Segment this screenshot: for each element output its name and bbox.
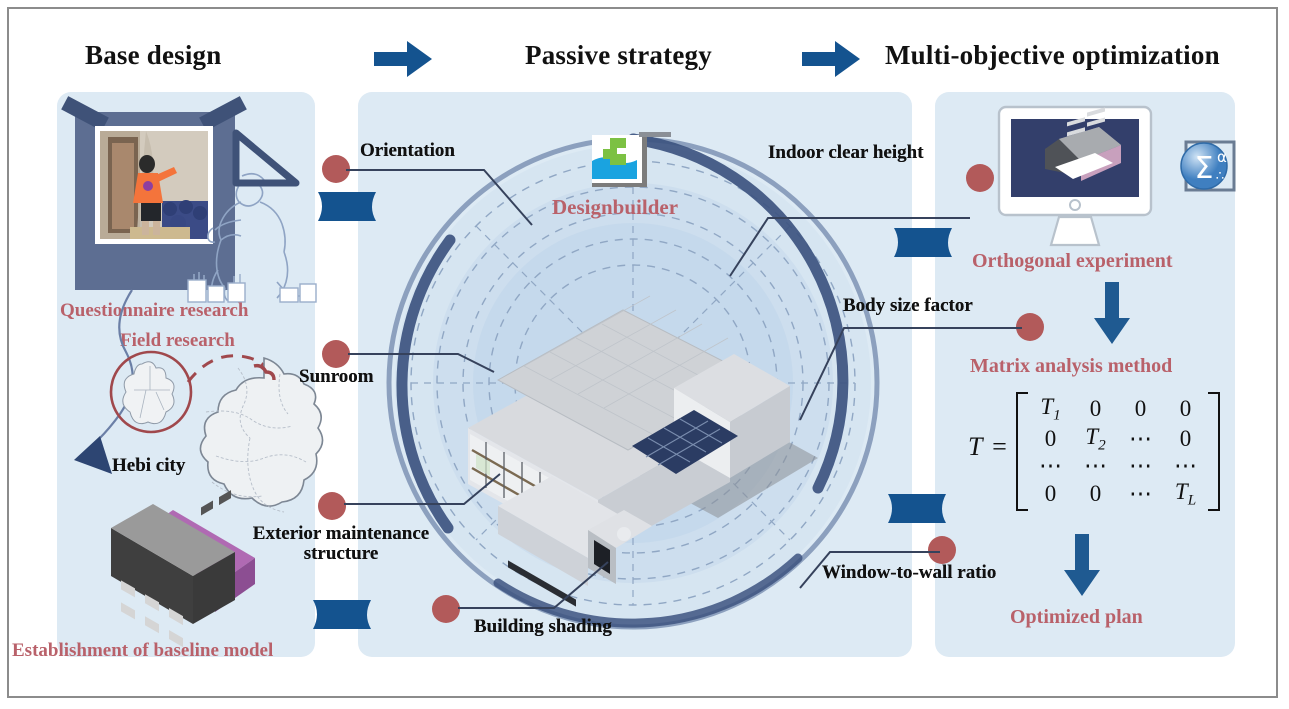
matrix-cell: 0 bbox=[1073, 394, 1118, 424]
designbuilder-logo-icon bbox=[592, 135, 647, 187]
label-indoor-clear-height: Indoor clear height bbox=[768, 142, 924, 164]
surveyor-illustration bbox=[196, 170, 336, 310]
ribbon-divider-1 bbox=[318, 192, 376, 222]
matrix-cell: 0 bbox=[1163, 394, 1208, 424]
header-step-2: Passive strategy bbox=[525, 40, 712, 71]
matrix-cell: ⋯ bbox=[1163, 453, 1208, 479]
label-hebi-city: Hebi city bbox=[112, 455, 185, 477]
dot-sunroom bbox=[322, 340, 350, 368]
baseline-building-model bbox=[65, 500, 275, 650]
matrix-cell: 0 bbox=[1028, 424, 1073, 454]
matrix-symbol-T: T bbox=[968, 432, 982, 461]
matrix-cell: 0 bbox=[1163, 424, 1208, 454]
matrix-cell: TL bbox=[1163, 479, 1208, 509]
caption-baseline-model: Establishment of baseline model bbox=[12, 640, 273, 662]
survey-photo bbox=[100, 131, 208, 239]
connector-indoor-clear-height bbox=[730, 172, 974, 282]
label-body-size-factor: Body size factor bbox=[843, 295, 973, 317]
matrix-cell: T2 bbox=[1073, 424, 1118, 454]
svg-text:α: α bbox=[1217, 148, 1227, 166]
matrix-cell: ⋯ bbox=[1118, 424, 1163, 454]
connector-window-to-wall-ratio bbox=[800, 542, 950, 602]
matrix-row: ⋯ ⋯ ⋯ ⋯ bbox=[1028, 453, 1208, 479]
matrix-cell: ⋯ bbox=[1118, 453, 1163, 479]
label-matrix-analysis-method: Matrix analysis method bbox=[970, 355, 1172, 378]
set-square-icon bbox=[232, 125, 314, 187]
monitor-icon bbox=[995, 105, 1155, 250]
matrix-cell: 0 bbox=[1118, 394, 1163, 424]
header-step-1: Base design bbox=[85, 40, 221, 71]
matrix-row: 0 0 ⋯ TL bbox=[1028, 479, 1208, 509]
dot-exterior-maintenance bbox=[318, 492, 346, 520]
matrix-row: 0 T2 ⋯ 0 bbox=[1028, 424, 1208, 454]
matrix-equals: = bbox=[990, 432, 1008, 461]
diagram-canvas: Base design Passive strategy Multi-objec… bbox=[0, 0, 1289, 709]
matrix-body: T1 0 0 0 0 T2 ⋯ 0 ⋯ ⋯ ⋯ ⋯ 0 0 ⋯ TL bbox=[1016, 392, 1220, 511]
down-arrow-2-icon bbox=[1062, 534, 1102, 596]
dot-building-shading bbox=[432, 595, 460, 623]
svg-text:∴: ∴ bbox=[1216, 169, 1224, 184]
ribbon-divider-4 bbox=[888, 494, 946, 524]
matrix-bracket-left bbox=[1016, 392, 1028, 511]
svg-text:Σ: Σ bbox=[1195, 151, 1214, 186]
connector-exterior-maintenance bbox=[344, 468, 504, 518]
matrix-cell: T1 bbox=[1028, 394, 1073, 424]
connector-building-shading bbox=[458, 560, 618, 615]
label-building-shading: Building shading bbox=[474, 616, 612, 638]
right-arrow-icon-2 bbox=[802, 41, 860, 77]
matrix-equation: T= T1 0 0 0 0 T2 ⋯ 0 ⋯ ⋯ ⋯ ⋯ 0 bbox=[968, 392, 1220, 511]
label-optimized-plan: Optimized plan bbox=[1010, 606, 1143, 629]
label-designbuilder: Designbuilder bbox=[552, 195, 678, 220]
matrix-row: T1 0 0 0 bbox=[1028, 394, 1208, 424]
label-orientation: Orientation bbox=[360, 140, 455, 162]
label-exterior-maintenance-structure: Exterior maintenance structure bbox=[226, 524, 456, 564]
matrix-cell: ⋯ bbox=[1073, 453, 1118, 479]
matrix-cell: 0 bbox=[1028, 479, 1073, 509]
label-orthogonal-experiment: Orthogonal experiment bbox=[972, 250, 1173, 273]
designbuilder-flag-pole bbox=[639, 132, 671, 137]
connector-sunroom bbox=[348, 348, 498, 388]
sigma-alpha-icon: Σ α ∴ bbox=[1178, 138, 1240, 200]
matrix-cell: 0 bbox=[1073, 479, 1118, 509]
passive-building-model bbox=[438, 238, 838, 568]
header-step-3: Multi-objective optimization bbox=[885, 40, 1220, 71]
ribbon-divider-2 bbox=[313, 600, 371, 630]
down-arrow-1-icon bbox=[1092, 282, 1132, 344]
matrix-bracket-right bbox=[1208, 392, 1220, 511]
right-arrow-icon bbox=[374, 41, 432, 77]
matrix-cell: ⋯ bbox=[1028, 453, 1073, 479]
matrix-cell: ⋯ bbox=[1118, 479, 1163, 509]
ribbon-divider-3 bbox=[894, 228, 952, 258]
